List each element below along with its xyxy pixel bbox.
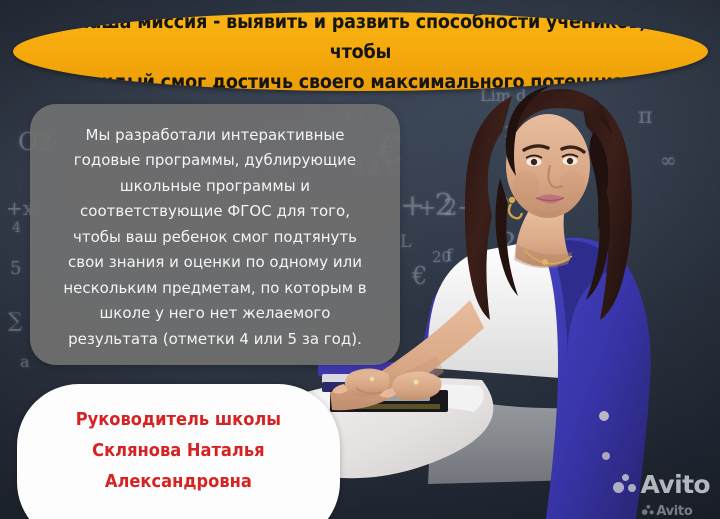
description-card: Мы разработали интерактивные годовые про… <box>30 104 400 365</box>
avito-watermark: Avito <box>613 472 710 497</box>
avito-watermark-secondary: Avito <box>641 504 692 517</box>
headline-text: Наша миссия - выявить и развить способно… <box>48 12 674 91</box>
credit-text: Руководитель школы Склянова Наталья Алек… <box>76 405 281 498</box>
description-text: Мы разработали интерактивные годовые про… <box>41 117 388 353</box>
headline-banner: Наша миссия - выявить и развить способно… <box>13 12 708 91</box>
credit-card: Руководитель школы Склянова Наталья Алек… <box>17 384 340 519</box>
avito-watermark-label: Avito <box>641 472 710 497</box>
avito-logo-icon <box>613 474 636 496</box>
poster: €+29 2 1+ 2,42+ 2+ 2+027€20LfLim dO2+x54… <box>0 0 720 519</box>
avito-logo-icon-small <box>641 505 653 516</box>
avito-watermark-label-small: Avito <box>656 504 692 517</box>
